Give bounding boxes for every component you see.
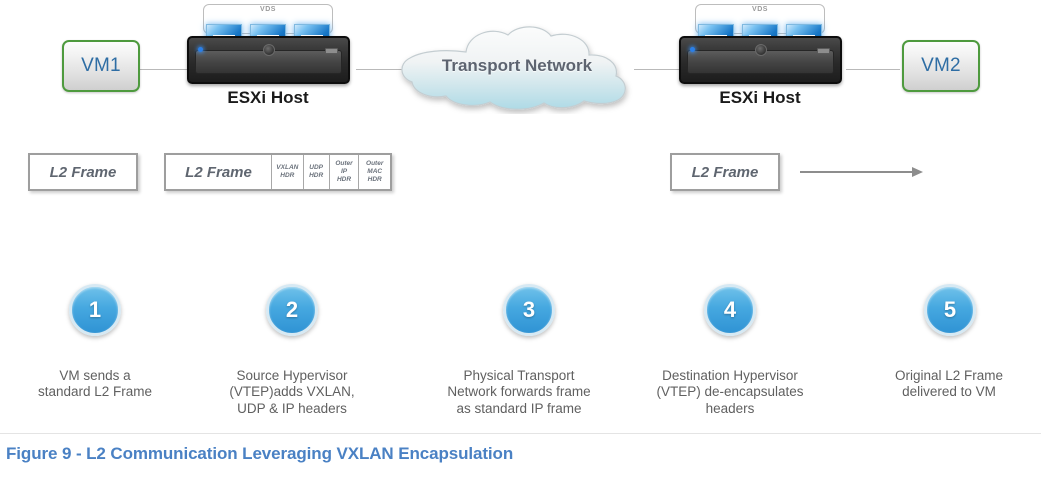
step-marker-2[interactable]: 2: [266, 284, 318, 336]
flow-arrow-head-icon: [912, 167, 923, 177]
step-number: 4: [724, 299, 736, 321]
header-line: VXLAN: [276, 164, 298, 172]
transport-network-cloud: Transport Network: [388, 22, 646, 114]
vds-label-left: VDS: [204, 6, 332, 13]
header-line: Outer: [335, 160, 352, 168]
step-number: 1: [89, 299, 101, 321]
flow-arrow-line: [800, 171, 912, 173]
caption-divider: [0, 433, 1041, 434]
step-marker-5[interactable]: 5: [924, 284, 976, 336]
vm2-label: VM2: [921, 55, 961, 77]
step-circle: 5: [924, 284, 976, 336]
step-marker-3[interactable]: 3: [503, 284, 555, 336]
vm1-box[interactable]: VM1: [62, 40, 140, 92]
frame-plain-right: L2 Frame: [670, 153, 780, 191]
header-line: HDR: [337, 176, 351, 184]
header-line: UDP: [309, 164, 323, 172]
header-line: HDR: [280, 172, 294, 180]
port-icon: [817, 48, 830, 54]
step-caption-2: Source Hypervisor (VTEP)adds VXLAN, UDP …: [202, 368, 382, 417]
header-cell-outer-mac: Outer MAC HDR: [358, 155, 390, 189]
drive-knob-icon: [263, 44, 275, 56]
header-line: Outer: [366, 160, 383, 168]
frame-label: L2 Frame: [166, 155, 271, 189]
frame-label: L2 Frame: [30, 155, 136, 189]
step-number: 5: [944, 299, 956, 321]
port-icon: [325, 48, 338, 54]
vm1-label: VM1: [81, 55, 121, 77]
header-cell-udp: UDP HDR: [303, 155, 329, 189]
header-cell-vxlan: VXLAN HDR: [271, 155, 303, 189]
header-line: HDR: [309, 172, 323, 180]
power-led-icon: [690, 47, 695, 52]
step-marker-1[interactable]: 1: [69, 284, 121, 336]
step-caption-3: Physical Transport Network forwards fram…: [421, 368, 617, 417]
frame-plain-left: L2 Frame: [28, 153, 138, 191]
drive-knob-icon: [755, 44, 767, 56]
step-number: 2: [286, 299, 298, 321]
wire-host-right-to-vm2: [846, 69, 900, 70]
step-circle: 3: [503, 284, 555, 336]
server-chassis-left: [187, 36, 350, 84]
step-number: 3: [523, 299, 535, 321]
header-line: IP: [341, 168, 347, 176]
vm2-box[interactable]: VM2: [902, 40, 980, 92]
step-caption-1: VM sends a standard L2 Frame: [10, 368, 180, 401]
header-cell-outer-ip: Outer IP HDR: [329, 155, 359, 189]
step-marker-4[interactable]: 4: [704, 284, 756, 336]
step-caption-4: Destination Hypervisor (VTEP) de-encapsu…: [632, 368, 828, 417]
frame-label: L2 Frame: [672, 155, 778, 189]
frame-encapsulated: L2 Frame VXLAN HDR UDP HDR Outer IP HDR …: [164, 153, 392, 191]
cloud-label: Transport Network: [388, 56, 646, 76]
step-circle: 4: [704, 284, 756, 336]
step-circle: 2: [266, 284, 318, 336]
figure-caption: Figure 9 - L2 Communication Leveraging V…: [6, 444, 513, 464]
server-chassis-right: [679, 36, 842, 84]
step-caption-5: Original L2 Frame delivered to VM: [858, 368, 1040, 401]
power-led-icon: [198, 47, 203, 52]
vds-label-right: VDS: [696, 6, 824, 13]
esxi-host-right-label: ESXi Host: [672, 88, 848, 108]
esxi-host-left[interactable]: VDS: [180, 4, 356, 96]
vxlan-encapsulation-diagram: VM1 VDS ESXi Host: [0, 0, 1041, 482]
header-line: HDR: [368, 176, 382, 184]
esxi-host-right[interactable]: VDS: [672, 4, 848, 96]
step-circle: 1: [69, 284, 121, 336]
esxi-host-left-label: ESXi Host: [180, 88, 356, 108]
header-line: MAC: [367, 168, 382, 176]
